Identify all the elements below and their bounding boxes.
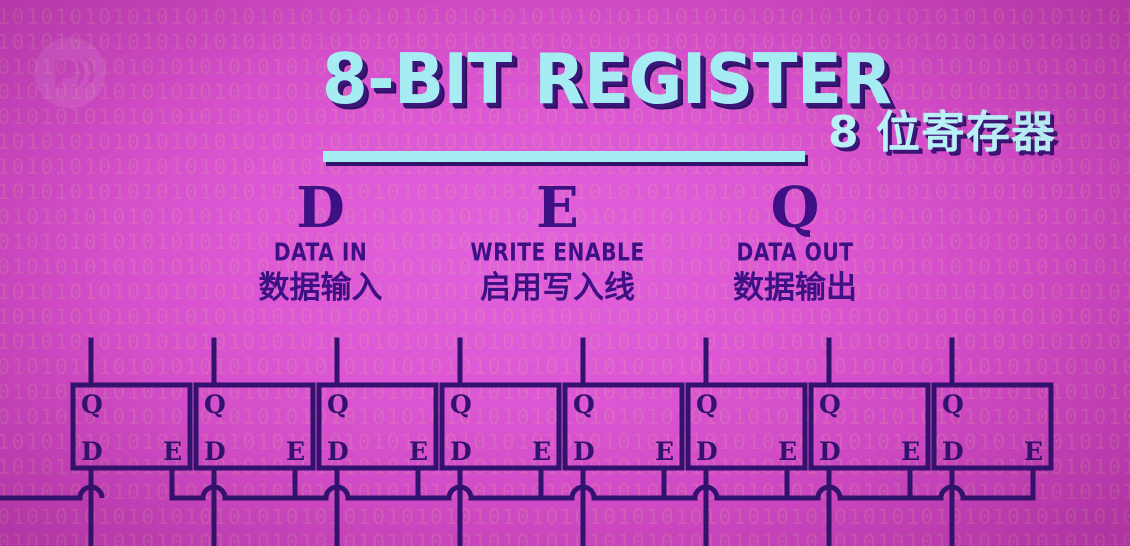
cell-1-terminal-d: D [81,437,103,466]
register-cell-group: QDEQDEQDEQDEQDEQDEQDEQDE [0,340,1051,546]
cell-8-terminal-d: D [942,437,964,466]
cell-6-terminal-e: E [778,437,797,466]
cell-1-terminal-e: E [163,437,182,466]
cell-4-terminal-d: D [450,437,472,466]
cell-4-terminal-e: E [532,437,551,466]
cell-2-terminal-q: Q [204,390,226,419]
cell-2-terminal-d: D [204,437,226,466]
cell-7-terminal-q: Q [819,390,841,419]
cell-4-terminal-q: Q [450,390,472,419]
cell-2-terminal-e: E [286,437,305,466]
screenshot-stage: 1010101010101010101010101010101010101010… [0,0,1130,546]
cell-8-terminal-e: E [1024,437,1043,466]
cell-3-terminal-q: Q [327,390,349,419]
cell-7-terminal-d: D [819,437,841,466]
cell-7-terminal-e: E [901,437,920,466]
cell-8-terminal-q: Q [942,390,964,419]
cell-5-terminal-e: E [655,437,674,466]
register-circuit-diagram: QDEQDEQDEQDEQDEQDEQDEQDE [0,0,1130,546]
cell-1-terminal-q: Q [81,390,103,419]
cell-3-terminal-e: E [409,437,428,466]
cell-6-terminal-d: D [696,437,718,466]
cell-6-terminal-q: Q [696,390,718,419]
cell-5-terminal-d: D [573,437,595,466]
cell-3-terminal-d: D [327,437,349,466]
cell-5-terminal-q: Q [573,390,595,419]
